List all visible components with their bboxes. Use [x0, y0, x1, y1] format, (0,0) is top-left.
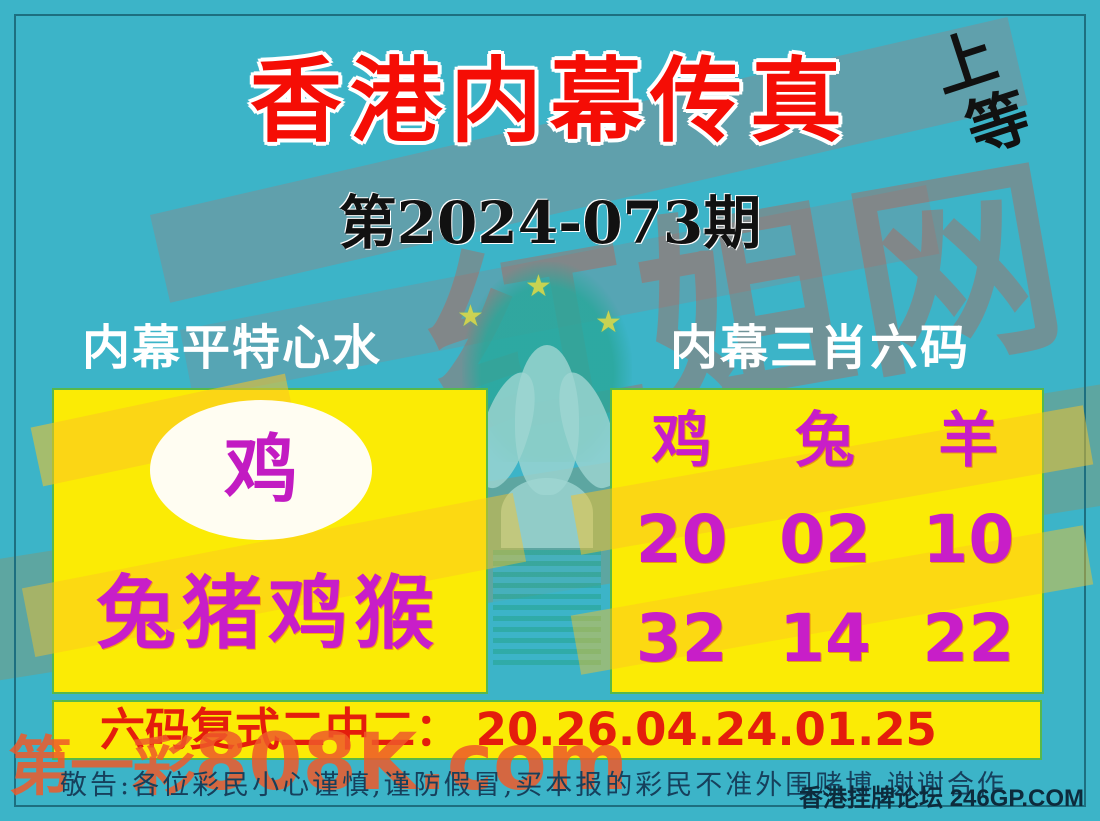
- grid-number-r1c2: 02: [779, 506, 871, 574]
- grid-number-r2c1: 32: [636, 605, 728, 673]
- zodiac-row: 兔猪鸡猴: [52, 565, 484, 661]
- section-header-left: 内幕平特心水: [82, 322, 382, 374]
- emblem-petal-center: [515, 345, 579, 495]
- bauhinia-emblem-watermark: ★ ★ ★: [487, 250, 607, 690]
- grid-number-r1c1: 20: [636, 506, 728, 574]
- emblem-star-right: ★: [595, 308, 622, 338]
- section-header-right: 内幕三肖六码: [670, 322, 970, 374]
- issue-number: 第2024-073期: [0, 192, 1100, 254]
- emblem-petal-bottom: [501, 478, 593, 548]
- highlight-zodiac: 鸡: [224, 431, 298, 509]
- grid-number-r2c3: 22: [922, 605, 1014, 673]
- corner-stamp: 上 等: [884, 10, 1070, 190]
- grid-zodiac-2: 兔: [795, 410, 855, 472]
- poster-canvas: 红姐网 ★ ★ ★ 香港内幕传真 第2024-073期 上 等 内幕平特心水 内…: [0, 0, 1100, 821]
- emblem-star-top: ★: [525, 272, 552, 302]
- emblem-base: [493, 550, 601, 670]
- grid-number-r2c2: 14: [779, 605, 871, 673]
- footer-site: 香港挂牌论坛 246GP.COM: [799, 785, 1084, 813]
- grid-number-r1c3: 10: [922, 506, 1014, 574]
- highlight-ellipse: 鸡: [150, 400, 372, 540]
- grid-zodiac-3: 羊: [938, 410, 998, 472]
- prediction-grid: 鸡 兔 羊 20 02 10 32 14 22: [610, 392, 1040, 688]
- grid-zodiac-1: 鸡: [652, 410, 712, 472]
- emblem-star-left: ★: [457, 302, 484, 332]
